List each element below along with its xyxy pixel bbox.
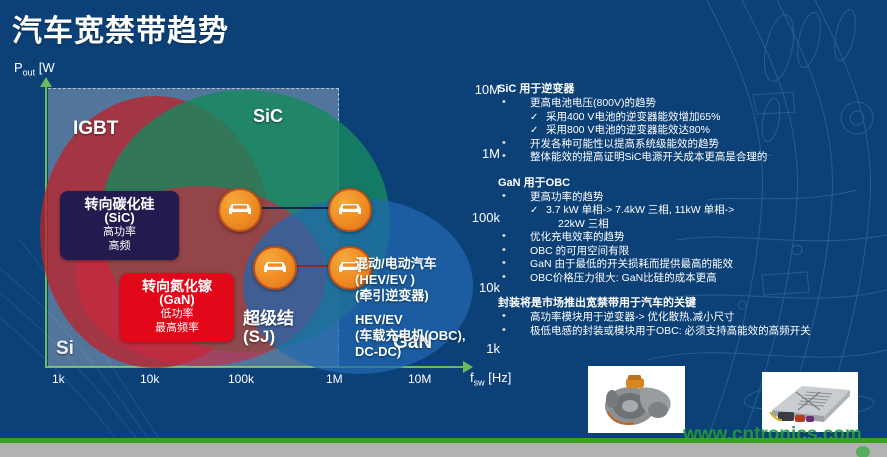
- section-heading-gan: GaN 用于OBC: [498, 174, 884, 190]
- annotation-hev-traction: 混动/电动汽车 (HEV/EV ) (牵引逆变器): [355, 256, 437, 304]
- x-tick-0: 1k: [52, 372, 65, 386]
- callout-gan-line4: 最高频率: [132, 321, 222, 335]
- region-label-igbt: IGBT: [73, 118, 118, 140]
- list-item: 优化充电效率的趋势: [488, 231, 884, 245]
- y-axis-arrow: [40, 77, 52, 87]
- x-tick-4: 10M: [408, 372, 431, 386]
- callout-gan-line2: (GaN): [132, 293, 222, 307]
- annot1-line2: (HEV/EV ): [355, 272, 415, 287]
- section-list-gan: 更高功率的趋势 3.7 kW 单相-> 7.4kW 三相, 11kW 单相-> …: [488, 191, 884, 286]
- y-axis-title: Pout [W: [14, 60, 55, 78]
- region-label-superjunction: 超级结 (SJ): [243, 310, 294, 346]
- annot1-line3: (牵引逆变器): [355, 288, 429, 303]
- car-icon: [262, 259, 288, 277]
- callout-sic-line3: 高功率: [72, 225, 167, 239]
- photo-inverter: [762, 372, 858, 432]
- list-item: 22kW 三相: [488, 218, 884, 232]
- section-list-sic: 更高电池电压(800V)的趋势 采用400 V电池的逆变器能效增加65% 采用8…: [488, 97, 884, 165]
- car-icon-node-obc-start: [253, 246, 297, 290]
- spacer: [488, 165, 884, 174]
- annot1-line1: 混动/电动汽车: [355, 256, 437, 271]
- section-heading-sic: SiC 用于逆变器: [498, 80, 884, 96]
- callout-sic-line4: 高频: [72, 239, 167, 253]
- car-icon: [337, 201, 363, 219]
- connector-hev-traction: [260, 207, 330, 209]
- region-label-si: Si: [56, 338, 74, 360]
- callout-gan-line1: 转向氮化镓: [132, 279, 222, 293]
- callout-gan-line3: 低功率: [132, 307, 222, 321]
- section-heading-packaging: 封装将是市场推出宽禁带用于汽车的关键: [498, 294, 884, 310]
- annot2-line1: HEV/EV: [355, 312, 403, 327]
- slide-canvas: 汽车宽禁带趋势 Pout [W fsw [Hz] 10M 1M 100k 10k…: [0, 0, 887, 457]
- electric-drive-unit-image: [588, 366, 685, 433]
- list-item: 极低电感的封装或模块用于OBC: 必须支持高能效的高频开关: [488, 325, 884, 339]
- callout-sic-line1: 转向碳化硅: [72, 197, 167, 211]
- callout-sic: 转向碳化硅 (SiC) 高功率 高频: [60, 191, 179, 260]
- list-item: GaN 由于最低的开关损耗而提供最高的能效: [488, 258, 884, 272]
- annotation-hev-obc: HEV/EV (车载充电机(OBC), DC-DC): [355, 312, 466, 360]
- list-item: 采用400 V电池的逆变器能效增加65%: [488, 111, 884, 125]
- photo-emotor: [588, 366, 685, 433]
- car-icon-node-hev-end: [328, 188, 372, 232]
- list-item: 3.7 kW 单相-> 7.4kW 三相, 11kW 单相->: [488, 204, 884, 218]
- sj-label-line2: (SJ): [243, 327, 275, 346]
- callout-gan: 转向氮化镓 (GaN) 低功率 最高频率: [120, 273, 234, 342]
- list-item: OBC 的可用空间有限: [488, 245, 884, 259]
- page-title: 汽车宽禁带趋势: [12, 6, 229, 50]
- callout-sic-line2: (SiC): [72, 211, 167, 225]
- list-item: 开发各种可能性以提高系统级能效的趋势: [488, 138, 884, 152]
- x-tick-2: 100k: [228, 372, 254, 386]
- sj-label-line1: 超级结: [243, 309, 294, 328]
- footer-bar: [0, 443, 887, 457]
- power-module-image: [762, 372, 858, 432]
- connector-hev-obc: [295, 265, 331, 267]
- list-item: 更高电池电压(800V)的趋势: [488, 97, 884, 111]
- x-tick-3: 1M: [326, 372, 343, 386]
- details-panel: SiC 用于逆变器 更高电池电压(800V)的趋势 采用400 V电池的逆变器能…: [488, 80, 884, 370]
- list-item: 采用800 V电池的逆变器能效达80%: [488, 124, 884, 138]
- list-item: 高功率模块用于逆变器-> 优化散热,减小尺寸: [488, 311, 884, 325]
- region-label-sic: SiC: [253, 106, 283, 127]
- annot2-line2: (车载充电机(OBC),: [355, 328, 466, 343]
- car-icon-node-hev-start: [218, 188, 262, 232]
- list-item: OBC价格压力很大: GaN比硅的成本更高: [488, 272, 884, 286]
- x-axis-title: fsw [Hz]: [470, 370, 511, 388]
- wbg-trend-chart: Pout [W fsw [Hz] 10M 1M 100k 10k 1k 1k 1…: [0, 60, 500, 400]
- list-item: 更高功率的趋势: [488, 191, 884, 205]
- spacer: [488, 285, 884, 294]
- section-list-packaging: 高功率模块用于逆变器-> 优化散热,减小尺寸 极低电感的封装或模块用于OBC: …: [488, 311, 884, 338]
- watermark-dot-icon: [856, 446, 870, 457]
- car-icon: [227, 201, 253, 219]
- list-item: 整体能效的提高证明SiC电源开关成本更高是合理的: [488, 151, 884, 165]
- annot2-line3: DC-DC): [355, 344, 401, 359]
- x-tick-1: 10k: [140, 372, 159, 386]
